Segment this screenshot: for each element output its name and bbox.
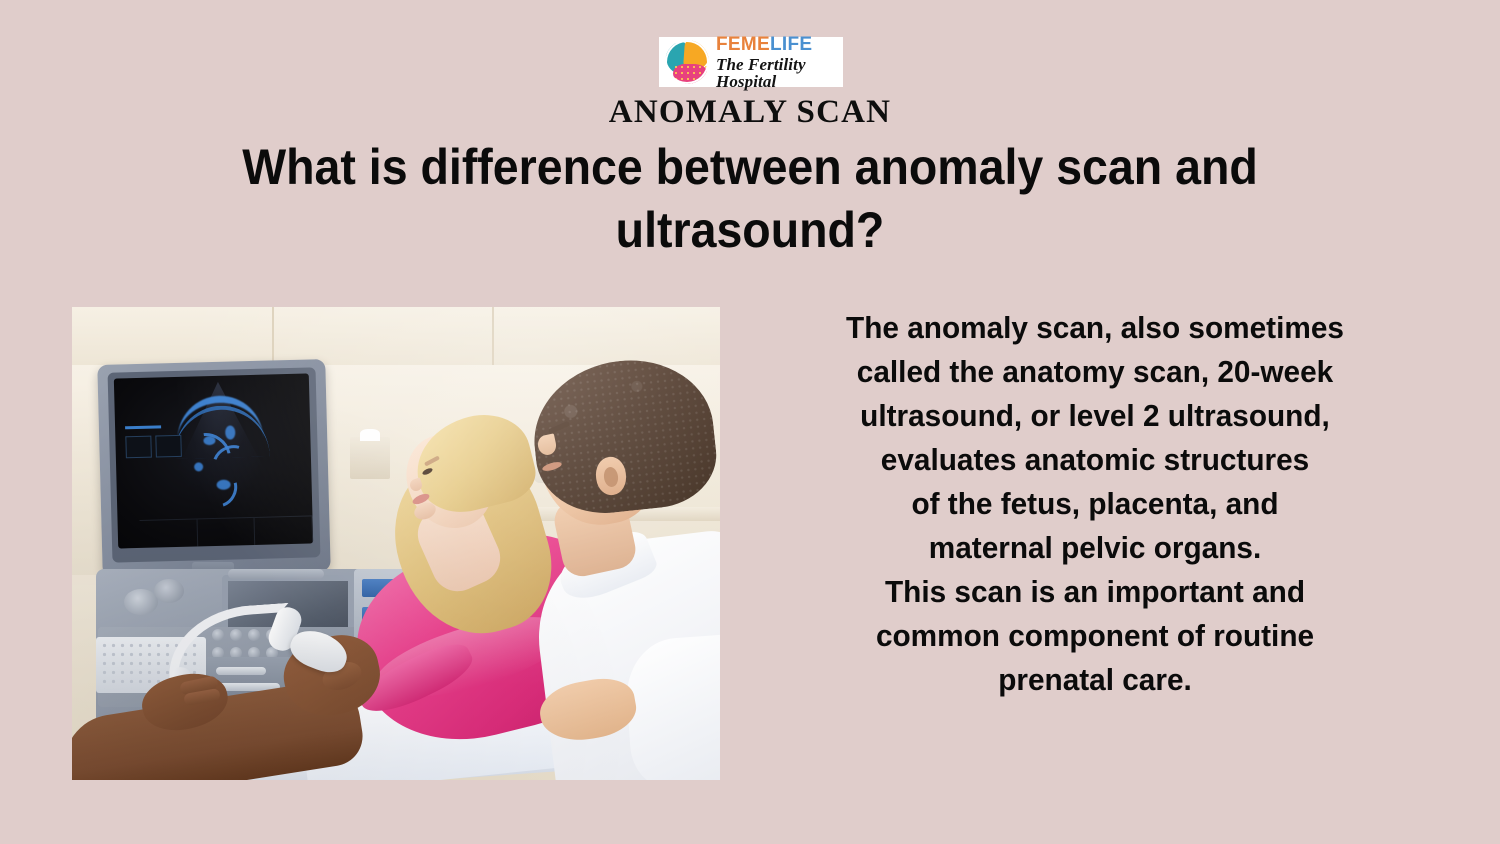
body-line: maternal pelvic organs. xyxy=(802,526,1388,570)
logo-ring xyxy=(665,40,709,84)
kicker-heading: ANOMALY SCAN xyxy=(0,94,1500,131)
brand-wordmark: FEMELIFE xyxy=(716,35,843,54)
brand-word-life: LIFE xyxy=(770,34,812,55)
body-line: evaluates anatomic structures xyxy=(802,438,1388,482)
tissue-box xyxy=(350,437,390,479)
monitor-bottom-strip xyxy=(140,515,314,548)
console-trackball xyxy=(124,589,158,615)
logo-text-block: FEMELIFE The Fertility Hospital xyxy=(716,35,843,90)
cabinet-seam xyxy=(492,307,494,365)
tissue-sheet xyxy=(360,429,380,441)
ultrasound-photo xyxy=(72,307,720,780)
monitor-strip-cell xyxy=(140,519,198,548)
monitor-strip-cell xyxy=(255,516,313,545)
scan-thumbnail xyxy=(155,435,182,458)
body-line: of the fetus, placenta, and xyxy=(802,482,1388,526)
body-line: This scan is an important and xyxy=(802,570,1388,614)
brand-tagline: The Fertility Hospital xyxy=(716,56,843,90)
scan-thumbnail-group xyxy=(125,429,186,465)
body-line: called the anatomy scan, 20-week xyxy=(802,350,1388,394)
body-paragraph: The anomaly scan, also sometimes called … xyxy=(802,306,1388,702)
page-title-line-1: What is difference between anomaly scan … xyxy=(164,136,1336,199)
body-line: ultrasound, or level 2 ultrasound, xyxy=(802,394,1388,438)
page-title-line-2: ultrasound? xyxy=(164,199,1336,262)
cabinet-seam xyxy=(272,307,274,365)
monitor-strip-cell xyxy=(197,518,255,547)
console-knob xyxy=(154,579,184,603)
brand-word-feme: FEME xyxy=(716,34,770,55)
body-line: prenatal care. xyxy=(802,658,1388,702)
page-title: What is difference between anomaly scan … xyxy=(164,136,1336,262)
body-line: common component of routine xyxy=(802,614,1388,658)
scan-thumbnail xyxy=(125,436,152,459)
brand-logo: FEMELIFE The Fertility Hospital xyxy=(659,37,843,87)
femelife-circle-mark xyxy=(665,40,709,84)
body-line: The anomaly scan, also sometimes xyxy=(802,306,1388,350)
upper-cabinets xyxy=(72,307,720,365)
console-handle xyxy=(228,569,324,579)
monitor-screen xyxy=(114,373,313,548)
